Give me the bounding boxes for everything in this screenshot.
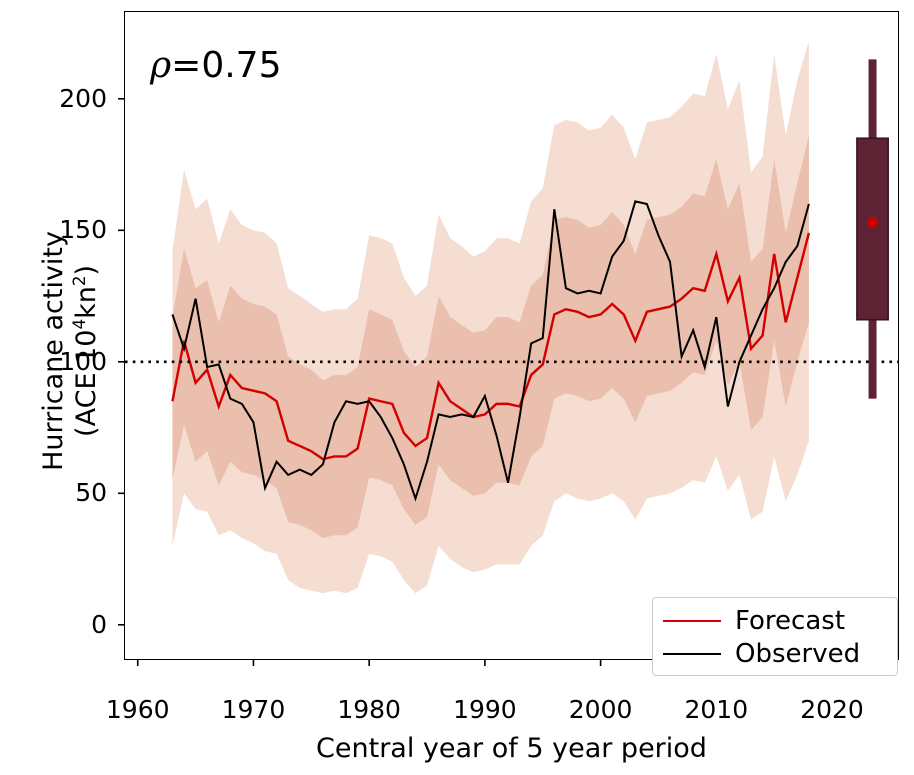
correlation-annotation: ρ=0.75	[150, 45, 282, 86]
legend-item-observed[interactable]: Observed	[663, 637, 887, 670]
x-tick-label: 1970	[198, 697, 308, 722]
legend-label-forecast: Forecast	[735, 608, 845, 634]
legend-label-observed: Observed	[735, 641, 860, 667]
x-tick-label: 2010	[661, 697, 771, 722]
boxplot-projection	[857, 59, 888, 398]
legend-swatch-forecast	[663, 620, 721, 622]
legend[interactable]: Forecast Observed	[652, 597, 898, 676]
legend-item-forecast[interactable]: Forecast	[663, 604, 887, 637]
legend-swatch-observed	[663, 653, 721, 655]
y-tick-label: 50	[37, 480, 107, 505]
x-tick-label: 1990	[430, 697, 540, 722]
x-tick-label: 2020	[777, 697, 887, 722]
rho-symbol: ρ	[150, 45, 171, 86]
y-tick-label: 100	[37, 349, 107, 374]
boxplot-mean-marker	[867, 217, 878, 228]
x-tick-label: 1980	[314, 697, 424, 722]
x-tick-label: 1960	[83, 697, 193, 722]
figure-canvas: Hurricane activity (ACE 104kn2) 05010015…	[0, 0, 914, 775]
rho-value: =0.75	[171, 45, 281, 86]
uncertainty-band-inner	[172, 136, 808, 538]
x-tick-label: 2000	[546, 697, 656, 722]
boxplot-box	[857, 138, 888, 319]
y-tick-label: 150	[37, 217, 107, 242]
x-axis-label: Central year of 5 year period	[124, 733, 899, 764]
y-tick-label: 0	[37, 612, 107, 637]
y-tick-label: 200	[37, 86, 107, 111]
